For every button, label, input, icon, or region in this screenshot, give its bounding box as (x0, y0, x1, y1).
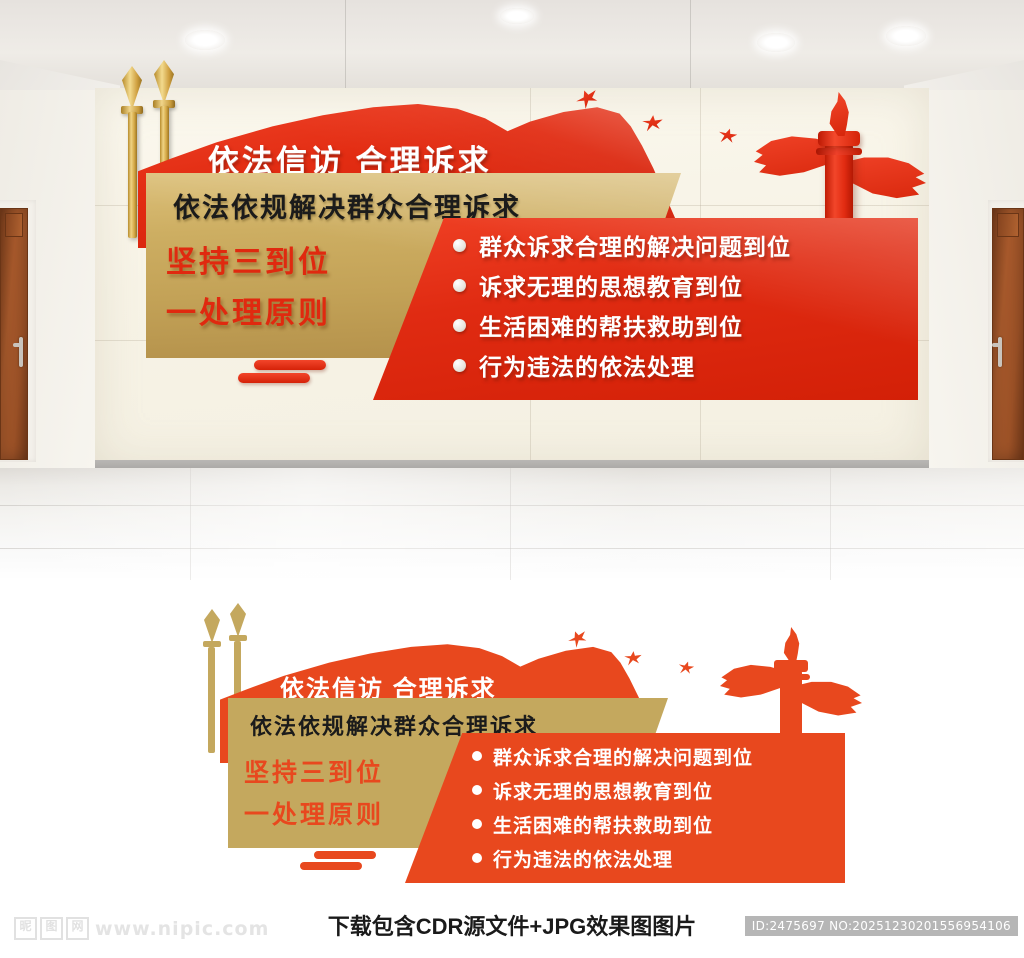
watermark-url: www.nipic.com (95, 918, 269, 940)
torch-flame (826, 92, 856, 136)
page-root: 依法信访 合理诉求 依法依规解决群众合理诉求 坚持三到位 一处理原则 (0, 0, 1024, 958)
ceiling-downlight (757, 33, 795, 52)
flat-artwork-preview: 依法信访 合理诉求 依法依规解决群众合理诉求 坚持三到位 一处理原则 群众 (0, 585, 1024, 958)
list-item: 群众诉求合理的解决问题到位 (472, 739, 852, 773)
list-item: 群众诉求合理的解决问题到位 (453, 225, 923, 265)
torch-ring (816, 148, 862, 155)
room-mockup: 依法信访 合理诉求 依法依规解决群众合理诉求 坚持三到位 一处理原则 (0, 0, 1024, 580)
artwork-slogan-line1: 坚持三到位 (166, 237, 331, 281)
flying-bird-icon (641, 114, 663, 134)
bullet-dot-icon (453, 279, 466, 292)
id-badge: ID:2475697 NO:20251230201556954106 (745, 916, 1018, 936)
bullet-text: 诉求无理的思想教育到位 (493, 777, 713, 804)
flag-pole (208, 647, 215, 753)
bullet-text: 生活困难的帮扶救助到位 (493, 811, 713, 838)
list-item: 诉求无理的思想教育到位 (472, 773, 852, 807)
ceiling-downlight (886, 26, 926, 46)
list-item: 生活困难的帮扶救助到位 (453, 305, 923, 345)
door-left[interactable] (0, 208, 28, 460)
floor-reflection (0, 468, 1024, 580)
bullet-text: 生活困难的帮扶救助到位 (479, 308, 743, 342)
wall-art-3d: 依法信访 合理诉求 依法依规解决群众合理诉求 坚持三到位 一处理原则 (118, 60, 918, 420)
bullet-text: 行为违法的依法处理 (479, 348, 695, 382)
door-transom (5, 213, 23, 237)
bullet-dot-icon (472, 819, 482, 829)
bullet-text: 群众诉求合理的解决问题到位 (493, 743, 753, 770)
watermark: 昵 图 网 www.nipic.com (14, 917, 269, 940)
wall-art-flat: 依法信访 合理诉求 依法依规解决群众合理诉求 坚持三到位 一处理原则 群众 (200, 603, 840, 888)
bullet-dot-icon (453, 239, 466, 252)
bullet-list: 群众诉求合理的解决问题到位 诉求无理的思想教育到位 生活困难的帮扶救助到位 行为… (453, 225, 923, 385)
door-handle-icon[interactable] (998, 337, 1002, 367)
bullet-dot-icon (472, 751, 482, 761)
spear-tip-icon (122, 66, 142, 110)
watermark-char: 图 (40, 917, 63, 940)
artwork-slogan-line2: 一处理原则 (166, 288, 331, 332)
door-transom (997, 213, 1019, 237)
bullet-dot-icon (453, 359, 466, 372)
flying-bird-icon (676, 659, 695, 678)
flying-bird-icon (566, 628, 589, 649)
door-right[interactable] (992, 208, 1024, 460)
artwork-slogan-line1: 坚持三到位 (244, 753, 384, 789)
bullet-dot-icon (453, 319, 466, 332)
bullet-dot-icon (472, 785, 482, 795)
bullet-dot-icon (472, 853, 482, 863)
watermark-char: 网 (66, 917, 89, 940)
ribbon-ornament-icon (238, 360, 338, 388)
artwork-slogan-line2: 一处理原则 (244, 795, 384, 831)
footer: 下载包含CDR源文件+JPG效果图图片 昵 图 网 www.nipic.com … (0, 905, 1024, 958)
bullet-text: 行为违法的依法处理 (493, 845, 673, 872)
door-handle-icon[interactable] (19, 337, 23, 367)
list-item: 行为违法的依法处理 (472, 841, 852, 875)
watermark-char: 昵 (14, 917, 37, 940)
ribbon-bar (314, 851, 376, 859)
ceiling-downlight (185, 30, 225, 50)
flying-bird-icon (716, 125, 739, 147)
flying-bird-icon (623, 650, 642, 667)
list-item: 诉求无理的思想教育到位 (453, 265, 923, 305)
bullet-list: 群众诉求合理的解决问题到位 诉求无理的思想教育到位 生活困难的帮扶救助到位 行为… (472, 739, 852, 875)
spear-tip-icon (230, 603, 246, 637)
ribbon-bar (300, 862, 362, 870)
spear-tip-icon (154, 60, 174, 104)
ribbon-bar (254, 360, 326, 370)
bullet-text: 群众诉求合理的解决问题到位 (479, 228, 791, 262)
flag-pole (128, 112, 137, 238)
spear-tip-icon (204, 609, 220, 643)
ribbon-ornament-icon (300, 851, 384, 875)
bullet-text: 诉求无理的思想教育到位 (479, 268, 743, 302)
list-item: 生活困难的帮扶救助到位 (472, 807, 852, 841)
torch-flame (781, 627, 805, 663)
watermark-logo-icon: 昵 图 网 (14, 917, 89, 940)
ceiling-downlight (500, 8, 534, 24)
list-item: 行为违法的依法处理 (453, 345, 923, 385)
torch-ring (772, 674, 810, 680)
ribbon-bar (238, 373, 310, 383)
torch-wing-right (792, 679, 862, 727)
